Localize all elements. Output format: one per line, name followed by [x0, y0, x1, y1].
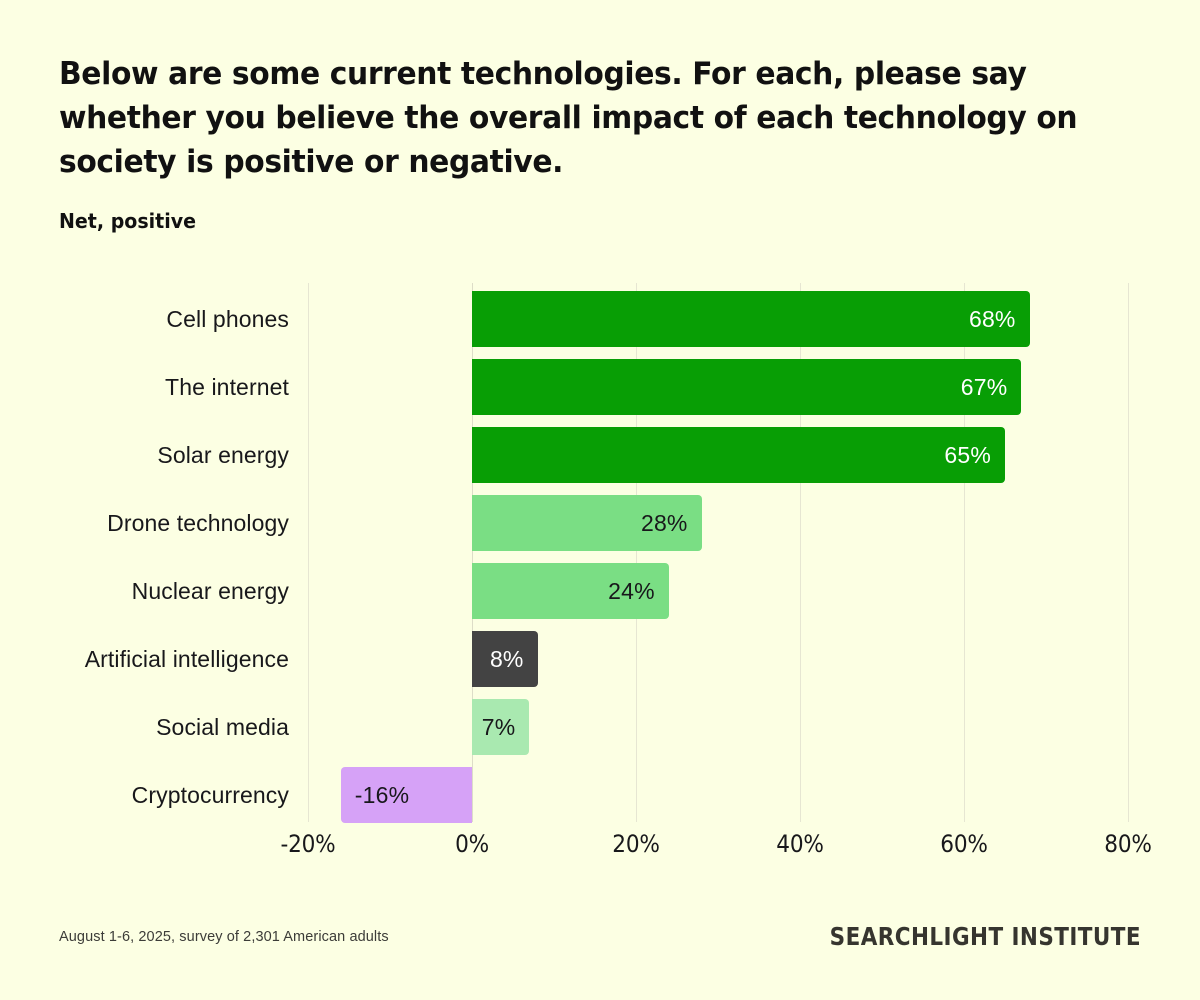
category-label: The internet	[165, 353, 289, 421]
x-axis-tick-label: -20%	[281, 828, 336, 860]
x-axis-tick-label: 0%	[455, 828, 489, 860]
bar-chart-plot: Cell phones68%The internet67%Solar energ…	[0, 0, 1200, 1000]
category-label: Social media	[156, 693, 289, 761]
bar-artificial-intelligence[interactable]: 8%	[472, 631, 538, 687]
x-axis-tick-label: 20%	[612, 828, 659, 860]
bar-the-internet[interactable]: 67%	[472, 359, 1021, 415]
bar-nuclear-energy[interactable]: 24%	[472, 563, 669, 619]
bar-value-label: 68%	[969, 291, 1016, 347]
category-label: Nuclear energy	[132, 557, 289, 625]
chart-row: Drone technology28%	[0, 489, 1200, 557]
chart-row: Social media7%	[0, 693, 1200, 761]
source-note: August 1-6, 2025, survey of 2,301 Americ…	[59, 929, 389, 945]
x-axis: -20%0%20%40%60%80%	[0, 828, 1200, 868]
x-axis-tick-label: 80%	[1104, 828, 1151, 860]
bar-value-label: 8%	[490, 631, 524, 687]
category-label: Drone technology	[107, 489, 289, 557]
chart-row: The internet67%	[0, 353, 1200, 421]
bar-value-label: 28%	[641, 495, 688, 551]
bar-drone-technology[interactable]: 28%	[472, 495, 702, 551]
chart-row: Solar energy65%	[0, 421, 1200, 489]
chart-footer: August 1-6, 2025, survey of 2,301 Americ…	[59, 922, 1141, 951]
x-axis-tick-label: 40%	[776, 828, 823, 860]
bar-solar-energy[interactable]: 65%	[472, 427, 1005, 483]
category-label: Cell phones	[166, 285, 289, 353]
chart-page: Below are some current technologies. For…	[0, 0, 1200, 1000]
category-label: Solar energy	[157, 421, 289, 489]
chart-row: Nuclear energy24%	[0, 557, 1200, 625]
category-label: Artificial intelligence	[85, 625, 289, 693]
chart-row: Artificial intelligence8%	[0, 625, 1200, 693]
bar-cryptocurrency[interactable]: -16%	[341, 767, 472, 823]
chart-row: Cryptocurrency-16%	[0, 761, 1200, 829]
x-axis-tick-label: 60%	[940, 828, 987, 860]
chart-row: Cell phones68%	[0, 285, 1200, 353]
bar-cell-phones[interactable]: 68%	[472, 291, 1030, 347]
bar-social-media[interactable]: 7%	[472, 699, 529, 755]
bar-value-label: 7%	[482, 699, 516, 755]
bar-value-label: 24%	[608, 563, 655, 619]
bar-value-label: 67%	[961, 359, 1008, 415]
bar-value-label: -16%	[355, 767, 410, 823]
chart-bar-rows: Cell phones68%The internet67%Solar energ…	[0, 285, 1200, 829]
category-label: Cryptocurrency	[132, 761, 289, 829]
bar-value-label: 65%	[944, 427, 991, 483]
brand-logo: SEARCHLIGHT INSTITUTE	[830, 922, 1141, 951]
